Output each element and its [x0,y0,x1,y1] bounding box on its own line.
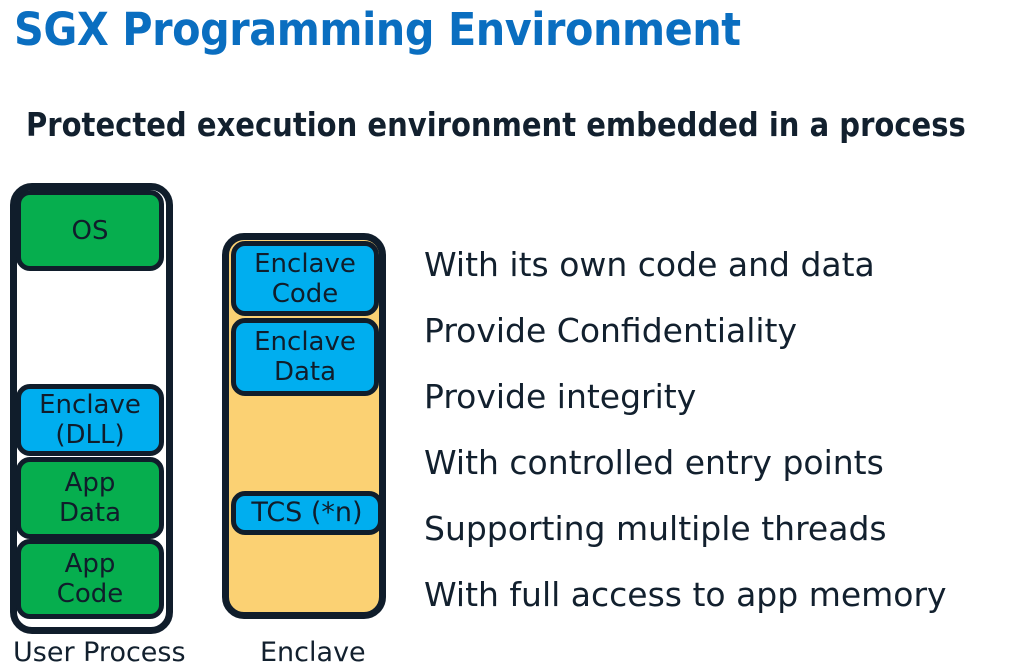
memory-block-app-code: App Code [16,539,164,619]
memory-block-app-data: App Data [16,457,164,539]
memory-block-app-code-line-2: Code [57,579,124,609]
memory-block-enclave-dll: Enclave (DLL) [16,384,164,456]
memory-block-enclave-code-line-1: Enclave [254,249,356,279]
memory-block-app-data-line-1: App [65,468,116,498]
feature-item: Provide integrity [424,364,1013,430]
memory-block-enclave-code: Enclave Code [231,241,379,316]
memory-block-app-data-line-2: Data [59,498,121,528]
enclave-label: Enclave [260,638,366,668]
memory-block-os-line-1: OS [72,216,109,246]
feature-item: With full access to app memory [424,562,1013,628]
feature-list: With its own code and data Provide Confi… [424,232,1013,628]
page-title: SGX Programming Environment [14,2,741,58]
feature-item: Provide Confidentiality [424,298,1013,364]
memory-block-enclave-data-line-1: Enclave [254,327,356,357]
feature-item: With its own code and data [424,232,1013,298]
memory-block-app-code-line-1: App [65,549,116,579]
memory-block-enclave-code-line-2: Code [272,279,339,309]
user-process-label: User Process [13,638,186,668]
feature-item: With controlled entry points [424,430,1013,496]
memory-block-enclave-dll-line-2: (DLL) [55,420,124,450]
memory-block-enclave-data-line-2: Data [274,357,336,387]
memory-block-tcs-line-1: TCS (*n) [251,498,362,528]
memory-block-enclave-data: Enclave Data [231,318,379,396]
memory-block-enclave-dll-line-1: Enclave [39,390,141,420]
memory-block-os: OS [16,190,164,271]
page-subtitle: Protected execution environment embedded… [26,102,966,148]
memory-block-tcs: TCS (*n) [231,491,383,535]
feature-item: Supporting multiple threads [424,496,1013,562]
